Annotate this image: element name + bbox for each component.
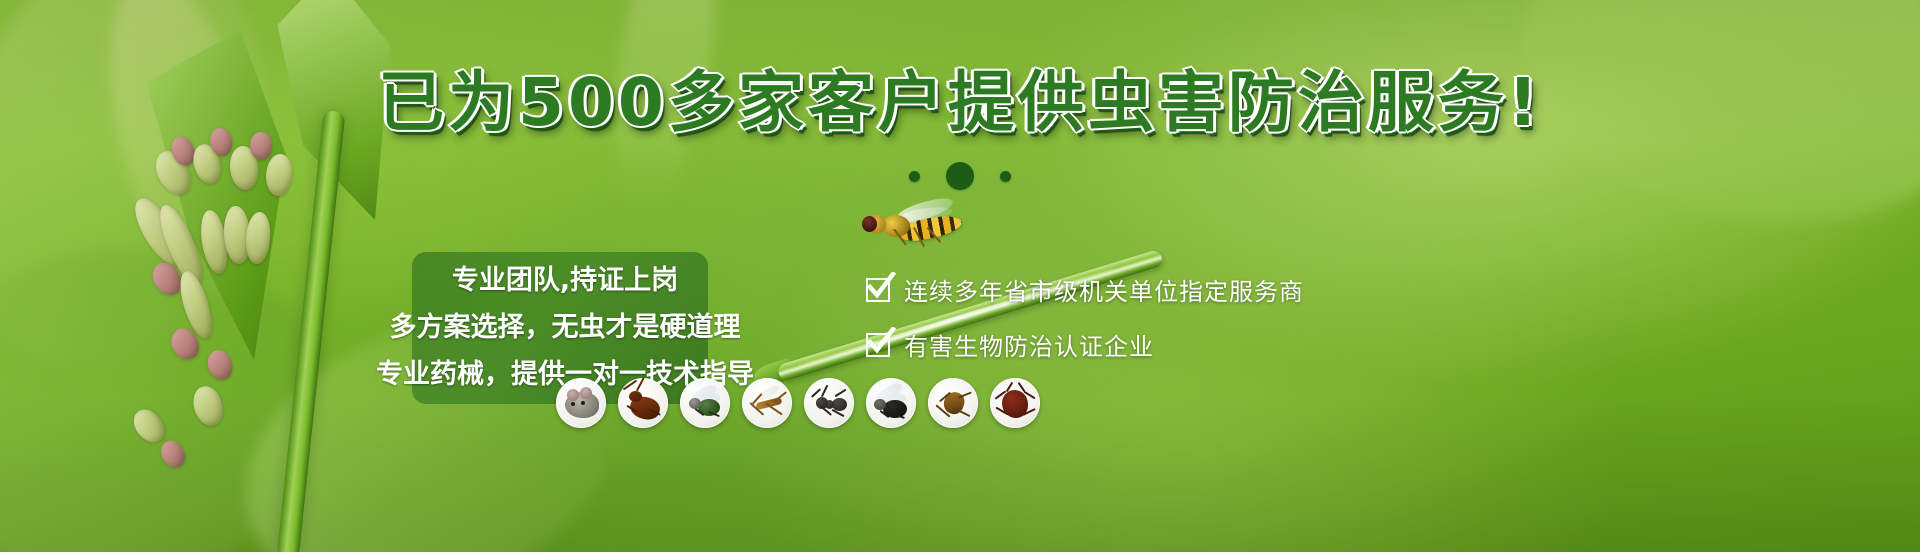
list-item: 有害生物防治认证企业 [866,327,1304,362]
feature-panel-text: 专业团队,持证上岗 多方案选择，无虫才是硬道理 专业药械，提供一对一技术指导 [330,258,800,391]
checkbox-check-icon [866,278,890,302]
promo-banner: 已为500多家客户提供虫害防治服务! 专业团队,持证上岗 多方案选择，无虫才是硬… [0,0,1920,552]
blowfly-icon[interactable]: 绿头蝇 [866,378,916,428]
mosquito-icon[interactable]: 蚊 [742,378,792,428]
dot-large-center [946,162,974,190]
credential-text-1: 连续多年省市级机关单位指定服务商 [904,272,1304,307]
feature-line-1: 专业团队,持证上岗 [452,258,678,297]
checkbox-check-icon [866,333,890,357]
housefly-icon[interactable]: 苍蝇 [680,378,730,428]
list-item: 连续多年省市级机关单位指定服务商 [866,272,1304,307]
pest-type-icon-row: 鼠 蟑螂 苍蝇 蚊 [556,378,1040,428]
page-title: 已为500多家客户提供虫害防治服务! [0,70,1920,136]
flea-icon[interactable]: 跳蚤 [928,378,978,428]
cockroach-icon[interactable]: 蟑螂 [618,378,668,428]
dot-small-right [1000,171,1011,182]
bedbug-icon[interactable]: 臭虫 [990,378,1040,428]
mouse-icon[interactable]: 鼠 [556,378,606,428]
credential-list: 连续多年省市级机关单位指定服务商 有害生物防治认证企业 [866,272,1304,362]
dot-small-left [909,171,920,182]
decorative-dots [909,162,1011,190]
feature-line-2: 多方案选择，无虫才是硬道理 [390,305,741,344]
hoverfly-icon [860,198,970,262]
credential-text-2: 有害生物防治认证企业 [904,327,1154,362]
ant-icon[interactable]: 蚂蚁 [804,378,854,428]
